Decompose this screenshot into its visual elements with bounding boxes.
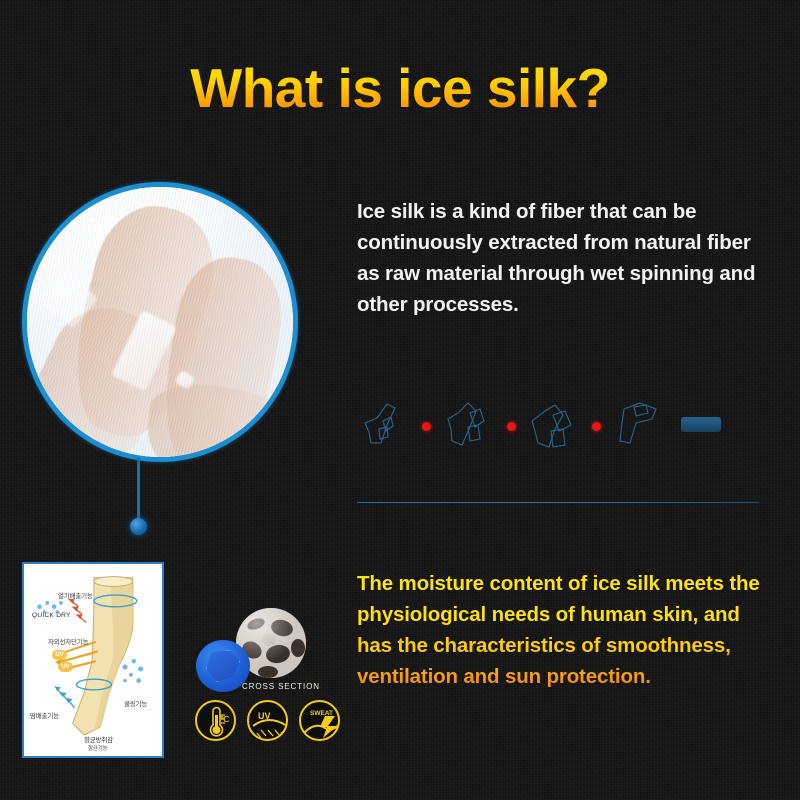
arm-sleeve-outline-icon [527, 399, 581, 453]
blue-chip-icon [681, 417, 721, 432]
poster-canvas: What is ice silk? Ice silk is a kind of … [0, 0, 800, 800]
sweat-badge-label: SWEAT [310, 710, 333, 717]
page-title: What is ice silk? [0, 60, 800, 118]
process-icon-strip [357, 398, 727, 454]
red-dot-icon [592, 422, 601, 431]
section-divider [357, 502, 759, 503]
callout-dot-icon [130, 518, 147, 535]
infographic-label-antibacterial-sub: 항균기능 [88, 744, 107, 752]
sweat-badge: SWEAT [299, 700, 340, 741]
infographic-label-sweat-release: 땀배출기능 [30, 710, 59, 720]
cross-section-label: CROSS SECTION [242, 682, 320, 691]
description-paragraph: Ice silk is a kind of fiber that can be … [357, 196, 759, 320]
cross-section-group: CROSS SECTION [196, 604, 346, 704]
uv-protection-badge-label: UV [258, 711, 271, 721]
uv-chip-icon: UV [58, 662, 73, 672]
circle-photo-frame [22, 182, 298, 462]
benefits-paragraph: The moisture content of ice silk meets t… [357, 568, 767, 692]
fabric-weave-overlay [27, 187, 293, 457]
infographic-label-uv-block: 자외선차단기능 [48, 636, 88, 646]
infographic-label-cooling: 쿨링기능 [124, 698, 147, 708]
uv-chip-icon: UV [52, 650, 67, 660]
temperature-badge: ℃ [195, 700, 236, 741]
feature-badge-row: ℃ UV SWEAT [195, 700, 340, 741]
callout-line [137, 458, 140, 520]
infographic-label-heat-release: 열기배출기능 [58, 590, 93, 600]
arm-sleeve-outline-icon [612, 399, 666, 453]
red-dot-icon [422, 422, 431, 431]
ice-silk-closeup-photo [22, 182, 298, 462]
arm-sleeve-infographic: QUICK DRY 열기배출기능 자외선차단기능 땀배출기능 쿨링기능 항균방취… [22, 562, 164, 758]
quick-dry-label: QUICK DRY [32, 612, 71, 619]
fiber-cross-section-shape [206, 650, 240, 682]
uv-protection-badge: UV [247, 700, 288, 741]
arm-sleeve-outline-icon [357, 399, 411, 453]
arm-sleeve-outline-icon [442, 399, 496, 453]
infographic-label-antibacterial: 항균방취감 [84, 734, 113, 744]
red-dot-icon [507, 422, 516, 431]
temperature-badge-label: ℃ [220, 715, 229, 724]
